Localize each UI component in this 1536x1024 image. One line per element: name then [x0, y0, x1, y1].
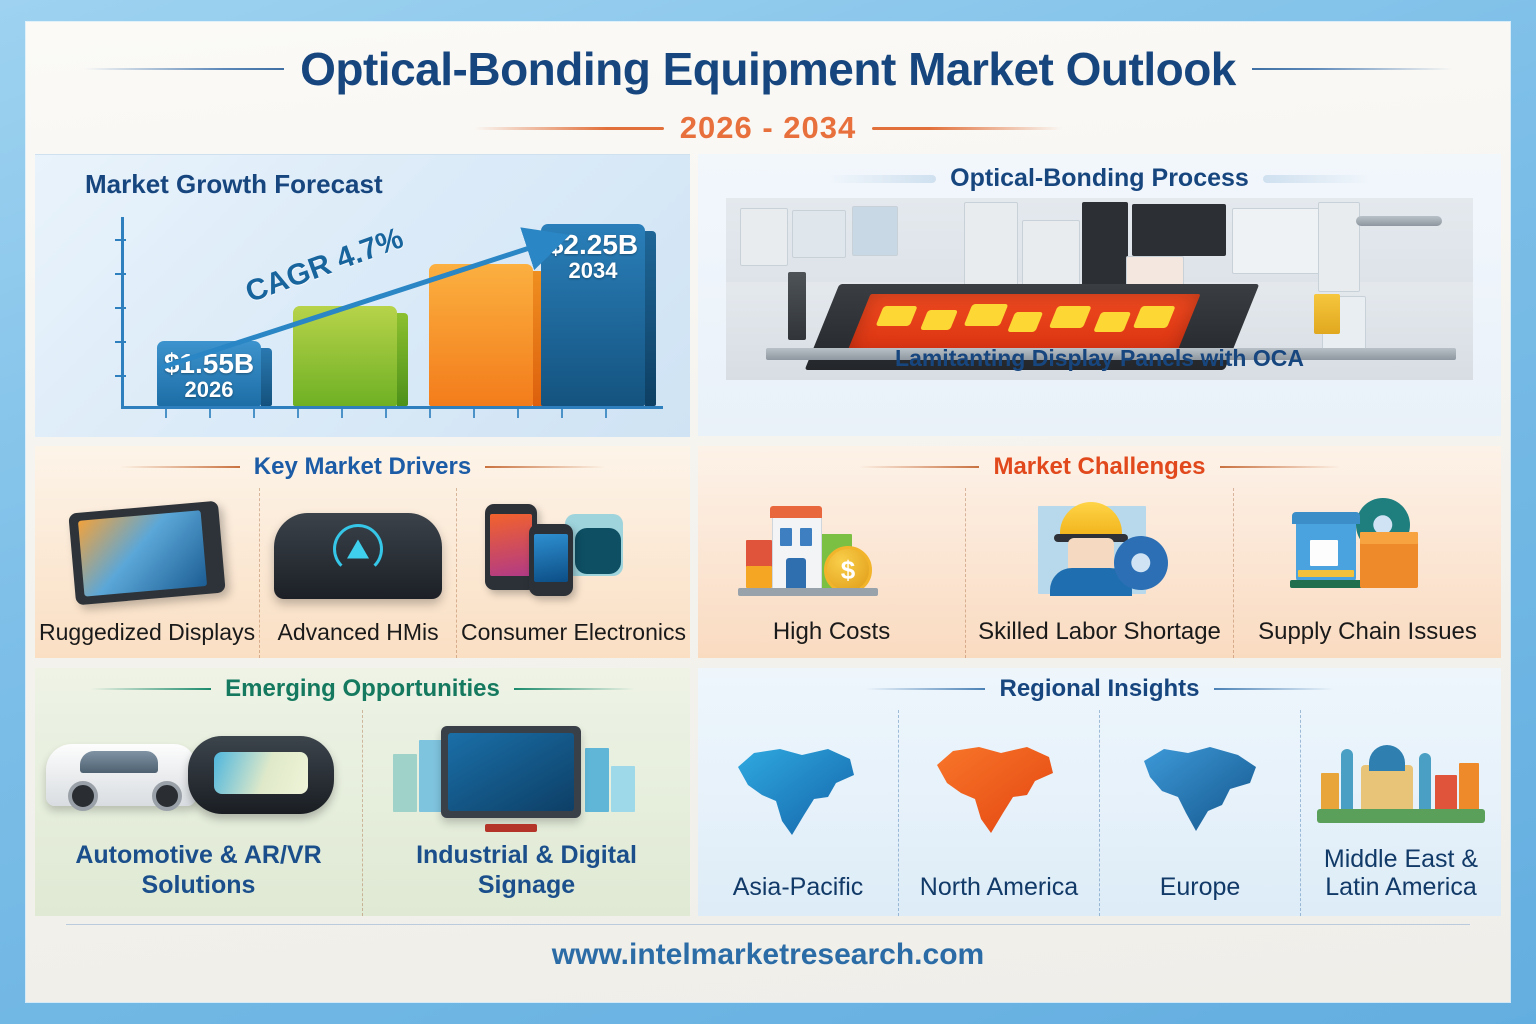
- camera-housing: [1132, 204, 1226, 256]
- warehouse-stripe: [1298, 570, 1354, 577]
- building-with-coin-icon: $: [698, 488, 965, 617]
- bg-bar: [585, 748, 609, 812]
- car-and-vr-headset-icon: [35, 710, 362, 839]
- subtitle-rule-left: [474, 127, 664, 130]
- y-axis-tick: [115, 375, 126, 377]
- bar-label-2026: $1.55B 2026: [157, 349, 261, 401]
- process-title: Optical-Bonding Process: [950, 164, 1249, 193]
- car-icon: [46, 744, 196, 806]
- oca-chip: [1093, 312, 1131, 332]
- map-shape: [732, 739, 864, 843]
- car-wheel: [68, 781, 98, 811]
- challenge-label: Skilled Labor Shortage: [974, 617, 1225, 658]
- chart-bars: $1.55B 2026 $2.25B 2034: [145, 224, 657, 406]
- window: [800, 528, 812, 546]
- oca-chip: [920, 310, 958, 330]
- driver-item-ruggedized-displays[interactable]: Ruggedized Displays: [35, 488, 259, 658]
- package-box: [1360, 540, 1418, 588]
- building-roof: [770, 506, 822, 518]
- x-axis-tick: [209, 409, 211, 418]
- drivers-rule-left: [120, 466, 240, 468]
- x-axis-tick: [561, 409, 563, 418]
- regions-title: Regional Insights: [999, 675, 1199, 703]
- x-axis-tick: [605, 409, 607, 418]
- map-shape: [933, 739, 1065, 843]
- opportunity-item-automotive-arvr[interactable]: Automotive & AR/VR Solutions: [35, 710, 362, 916]
- bar-side-face: [397, 313, 408, 406]
- y-axis-tick: [115, 341, 126, 343]
- optical-bonding-machine-photo: Lamitanting Display Panels with OCA: [726, 198, 1473, 380]
- process-title-row: Optical-Bonding Process: [698, 164, 1501, 193]
- page-title: Optical-Bonding Equipment Market Outlook: [300, 42, 1236, 96]
- vr-lens-screen: [214, 752, 308, 794]
- x-axis-tick: [165, 409, 167, 418]
- y-axis-tick: [115, 273, 126, 275]
- bar-2026: $1.55B 2026: [157, 341, 261, 406]
- wall-panel: [740, 208, 788, 266]
- middle-east-cityscape-icon: [1301, 710, 1501, 843]
- automotive-hmi-cluster-icon: [260, 488, 456, 618]
- challenges-title-row: Market Challenges: [698, 446, 1501, 488]
- driver-item-consumer-electronics[interactable]: Consumer Electronics: [456, 488, 690, 658]
- nozzle-yellow: [1314, 294, 1340, 334]
- x-axis-line: [121, 406, 663, 409]
- x-axis-tick: [517, 409, 519, 418]
- region-item-asia-pacific[interactable]: Asia-Pacific: [698, 710, 898, 916]
- oca-chip: [876, 306, 918, 326]
- chart-title: Market Growth Forecast: [85, 169, 383, 200]
- phone-screen: [534, 534, 568, 582]
- region-label: Middle East & Latin America: [1301, 843, 1501, 917]
- region-label: Europe: [1156, 871, 1245, 916]
- wall-panel: [792, 210, 846, 258]
- bg-bar: [419, 740, 443, 812]
- x-axis-tick: [385, 409, 387, 418]
- bar-value-2034: $2.25B: [541, 230, 645, 259]
- bar-3: [429, 264, 533, 406]
- opportunity-item-industrial-digital-signage[interactable]: Industrial & Digital Signage: [362, 710, 690, 916]
- driver-label: Consumer Electronics: [457, 618, 690, 658]
- title-rule-right: [1252, 68, 1452, 70]
- process-rule-right: [1263, 175, 1373, 183]
- footer-url: www.intelmarketresearch.com: [26, 938, 1510, 972]
- challenges-title: Market Challenges: [993, 453, 1205, 481]
- region-item-europe[interactable]: Europe: [1099, 710, 1300, 916]
- footer: www.intelmarketresearch.com: [26, 918, 1510, 1002]
- opportunities-title: Emerging Opportunities: [225, 675, 500, 703]
- hmi-triangle: [347, 539, 369, 558]
- bar-2034: $2.25B 2034: [541, 224, 645, 406]
- ground-bar: [738, 588, 878, 596]
- opportunities-title-row: Emerging Opportunities: [35, 668, 690, 710]
- region-item-middle-east-latin-america[interactable]: Middle East & Latin America: [1300, 710, 1501, 916]
- subtitle-rule-right: [872, 127, 1062, 130]
- door: [786, 558, 806, 588]
- title-row: Optical-Bonding Equipment Market Outlook: [26, 38, 1510, 100]
- phone-small: [529, 524, 573, 596]
- monitor-stand: [485, 824, 537, 832]
- octagon-device: [575, 528, 621, 574]
- y-axis-line: [121, 217, 124, 407]
- challenge-label: High Costs: [769, 617, 894, 658]
- infographic-frame: Optical-Bonding Equipment Market Outlook…: [0, 0, 1536, 1024]
- x-axis-tick: [429, 409, 431, 418]
- regions-title-row: Regional Insights: [698, 668, 1501, 710]
- drivers-title-row: Key Market Drivers: [35, 446, 690, 488]
- x-axis-tick: [253, 409, 255, 418]
- drivers-rule-right: [485, 466, 605, 468]
- market-growth-chart-panel: Market Growth Forecast: [35, 154, 690, 437]
- monitor-body: [441, 726, 581, 818]
- challenge-item-supply-chain-issues[interactable]: Supply Chain Issues: [1233, 488, 1501, 658]
- chart-axes: $1.55B 2026 $2.25B 2034: [121, 217, 663, 417]
- process-rule-left: [826, 175, 936, 183]
- challenge-label: Supply Chain Issues: [1254, 617, 1481, 658]
- car-wheel: [152, 781, 182, 811]
- warehouse-and-package-icon: [1234, 488, 1501, 617]
- smartphones-icon: [457, 488, 690, 618]
- bg-bar: [611, 766, 635, 812]
- challenge-item-skilled-labor-shortage[interactable]: Skilled Labor Shortage: [965, 488, 1233, 658]
- europe-world-map-icon: [1100, 710, 1300, 871]
- warehouse-base: [1290, 580, 1362, 588]
- emerging-opportunities-panel: Emerging Opportunities Automotive & AR/V…: [35, 668, 690, 916]
- regions-rule-left: [865, 688, 985, 690]
- window: [780, 528, 792, 546]
- mosque-dome: [1369, 745, 1405, 771]
- bar-value-2026: $1.55B: [157, 349, 261, 378]
- asia-pacific-map-icon: [698, 710, 898, 871]
- challenges-rule-left: [859, 466, 979, 468]
- bar-2: [293, 306, 397, 406]
- map-shape: [1134, 739, 1266, 843]
- control-box: [1318, 202, 1360, 292]
- regional-insights-panel: Regional Insights Asia-Pacific: [698, 668, 1501, 916]
- monitor-display-icon: [363, 710, 690, 839]
- market-challenges-panel: Market Challenges $ High Costs: [698, 446, 1501, 658]
- tablet-screen: [78, 510, 207, 596]
- subtitle-row: 2026 - 2034: [26, 106, 1510, 150]
- bg-bar: [393, 754, 417, 812]
- wall-panel: [852, 206, 898, 256]
- dollar-coin-icon: $: [824, 546, 872, 594]
- oca-chip: [1133, 306, 1176, 328]
- opportunities-rule-right: [514, 688, 634, 690]
- bar-side-face: [645, 231, 656, 406]
- optical-bonding-process-panel: Optical-Bonding Process: [698, 154, 1501, 436]
- tablet-body: [68, 501, 225, 606]
- key-market-drivers-panel: Key Market Drivers Ruggedized Displays: [35, 446, 690, 658]
- oca-chip: [1007, 312, 1043, 332]
- warehouse-roof: [1292, 512, 1360, 524]
- opportunities-columns: Automotive & AR/VR Solutions Industrial …: [35, 710, 690, 916]
- package-lid: [1360, 532, 1418, 544]
- north-america-map-icon: [899, 710, 1099, 871]
- phone-screen: [490, 514, 532, 576]
- bar-label-2034: $2.25B 2034: [541, 230, 645, 282]
- x-axis-tick: [341, 409, 343, 418]
- driver-label: Advanced HMis: [274, 618, 443, 658]
- y-axis-tick: [115, 239, 126, 241]
- greenery: [1317, 809, 1485, 823]
- block-orange: [746, 566, 772, 588]
- y-axis-tick: [115, 307, 126, 309]
- title-rule-left: [84, 68, 284, 70]
- drivers-title: Key Market Drivers: [254, 453, 471, 481]
- challenges-columns: $ High Costs Skilled Labor Shortage: [698, 488, 1501, 658]
- bar-year-2026: 2026: [157, 378, 261, 401]
- challenge-item-high-costs[interactable]: $ High Costs: [698, 488, 965, 658]
- footer-divider: [66, 924, 1470, 925]
- vr-headset-icon: [188, 736, 334, 814]
- header: Optical-Bonding Equipment Market Outlook…: [26, 22, 1510, 152]
- bar-year-2034: 2034: [541, 259, 645, 282]
- regions-rule-right: [1214, 688, 1334, 690]
- challenges-rule-right: [1220, 466, 1340, 468]
- driver-item-advanced-hmis[interactable]: Advanced HMis: [259, 488, 456, 658]
- region-label: Asia-Pacific: [729, 871, 868, 916]
- frame-post: [788, 272, 806, 340]
- x-axis-tick: [297, 409, 299, 418]
- hmi-body: [274, 513, 442, 599]
- bar-side-face: [261, 348, 272, 406]
- opportunities-rule-left: [91, 688, 211, 690]
- rugged-tablet-icon: [35, 488, 259, 618]
- monitor-screen: [448, 733, 574, 811]
- warehouse-window: [1310, 540, 1338, 566]
- oca-chip: [1049, 306, 1092, 328]
- page-subtitle: 2026 - 2034: [680, 110, 856, 146]
- region-item-north-america[interactable]: North America: [898, 710, 1099, 916]
- machine-arm: [1356, 216, 1442, 226]
- infographic-sheet: Optical-Bonding Equipment Market Outlook…: [26, 22, 1510, 1002]
- car-windshield: [80, 751, 158, 773]
- worker-with-gear-icon: [966, 488, 1233, 617]
- region-label: North America: [916, 871, 1082, 916]
- opportunity-label: Automotive & AR/VR Solutions: [35, 839, 362, 916]
- oca-chip: [964, 304, 1009, 326]
- x-axis-tick: [473, 409, 475, 418]
- cityscape-group: [1317, 727, 1485, 831]
- drivers-columns: Ruggedized Displays Advanced HMis: [35, 488, 690, 658]
- opportunity-label: Industrial & Digital Signage: [363, 839, 690, 916]
- regions-columns: Asia-Pacific North America: [698, 710, 1501, 916]
- process-caption: Lamitanting Display Panels with OCA: [726, 345, 1473, 372]
- driver-label: Ruggedized Displays: [35, 618, 259, 658]
- gear-icon: [1114, 536, 1168, 590]
